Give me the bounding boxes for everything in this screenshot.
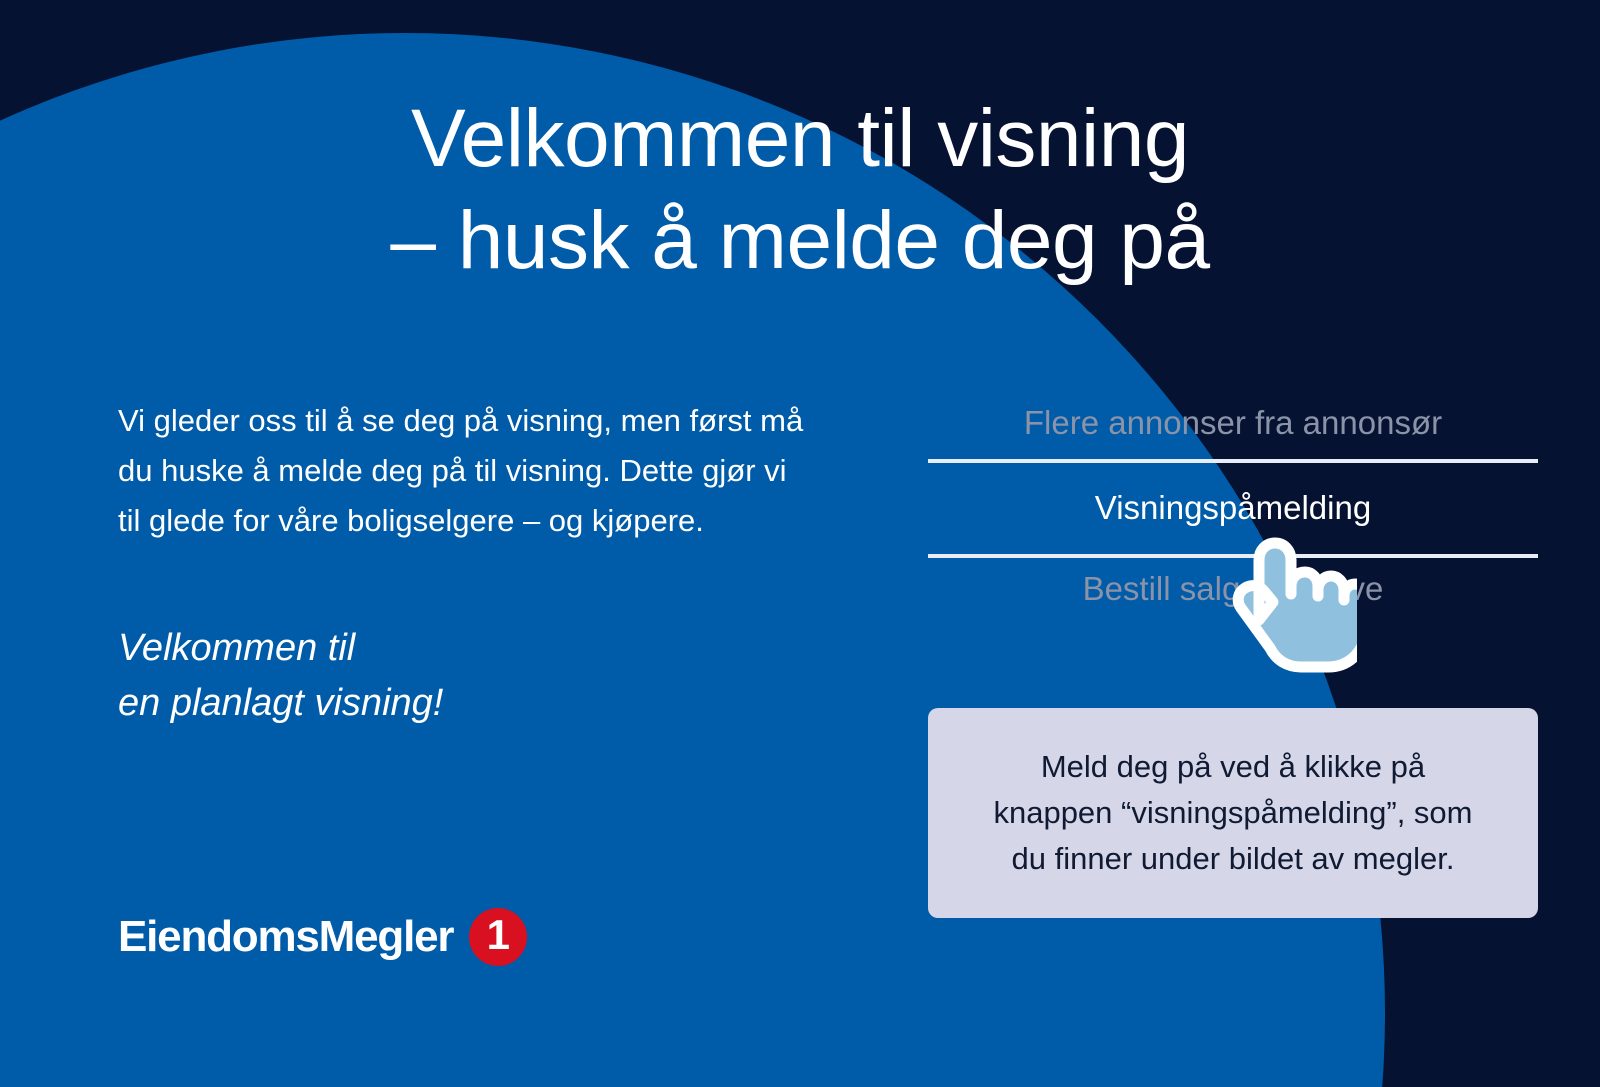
logo-red-circle-icon: 1 — [469, 908, 527, 966]
intro-paragraph: Vi gleder oss til å se deg på visning, m… — [118, 396, 878, 547]
left-content-column: Vi gleder oss til å se deg på visning, m… — [118, 396, 878, 731]
instruction-tooltip-text: Meld deg på ved å klikke på knappen “vis… — [969, 744, 1496, 882]
eiendomsmegler1-logo: EiendomsMegler 1 — [118, 908, 527, 966]
listing-action-menu: Flere annonser fra annonsør Visningspåme… — [928, 392, 1538, 625]
menu-item-bestill-salgsoppgave[interactable]: Bestill salgsoppgave — [928, 558, 1538, 625]
menu-item-flere-annonser[interactable]: Flere annonser fra annonsør — [928, 392, 1538, 459]
page-title: Velkommen til visning – husk å melde deg… — [0, 88, 1600, 291]
menu-item-visningspamelding[interactable]: Visningspåmelding — [928, 463, 1538, 554]
logo-wordmark: EiendomsMegler — [118, 915, 453, 959]
slide-canvas: Velkommen til visning – husk å melde deg… — [0, 0, 1600, 1087]
logo-badge-number: 1 — [487, 914, 510, 956]
welcome-emphasis-text: Velkommen til en planlagt visning! — [118, 621, 878, 731]
instruction-tooltip: Meld deg på ved å klikke på knappen “vis… — [928, 708, 1538, 918]
